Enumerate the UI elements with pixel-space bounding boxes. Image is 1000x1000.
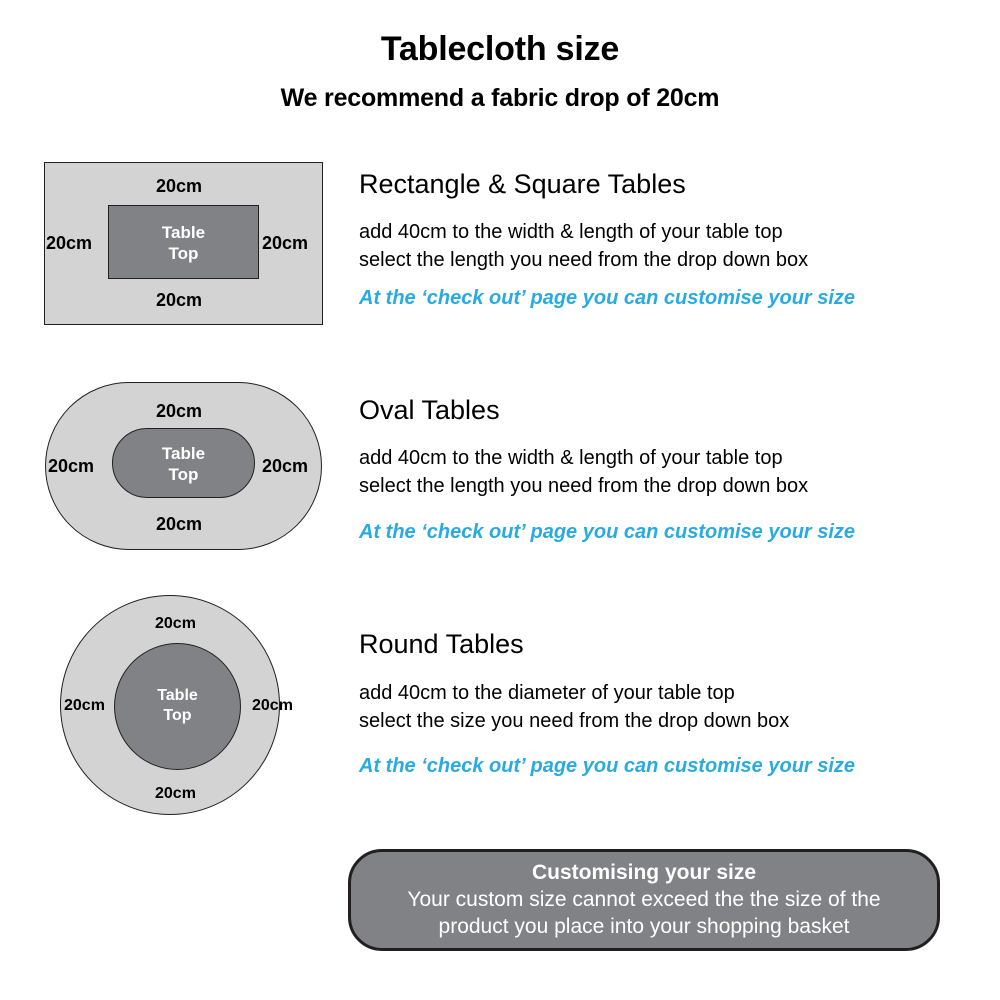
- section-oval-heading: Oval Tables: [359, 397, 500, 424]
- oval-table-top-label-line1: Table: [162, 444, 205, 463]
- oval-drop-bottom: 20cm: [156, 515, 202, 533]
- round-table-top: Table Top: [114, 643, 241, 770]
- section-rectangle-body-line1: add 40cm to the width & length of your t…: [359, 221, 783, 243]
- oval-table-top-label-line2: Top: [169, 465, 199, 484]
- round-table-top-label-line1: Table: [157, 687, 198, 704]
- rectangle-drop-right: 20cm: [262, 234, 308, 252]
- page-subtitle: We recommend a fabric drop of 20cm: [0, 84, 1000, 113]
- oval-drop-right: 20cm: [262, 457, 308, 475]
- section-oval-body: add 40cm to the width & length of your t…: [359, 445, 808, 500]
- round-drop-right: 20cm: [252, 698, 293, 714]
- oval-drop-top: 20cm: [156, 402, 202, 420]
- section-oval-body-line2: select the length you need from the drop…: [359, 475, 808, 497]
- oval-table-top: Table Top: [112, 428, 255, 498]
- rectangle-table-top-label-line2: Top: [169, 244, 199, 263]
- round-drop-left: 20cm: [64, 698, 105, 714]
- rectangle-table-top: Table Top: [108, 205, 259, 279]
- oval-drop-left: 20cm: [48, 457, 94, 475]
- round-drop-bottom: 20cm: [155, 786, 196, 802]
- section-oval-note: At the ‘check out’ page you can customis…: [359, 522, 855, 542]
- round-drop-top: 20cm: [155, 616, 196, 632]
- callout-line-2: product you place into your shopping bas…: [439, 914, 850, 941]
- customising-your-size-callout: Customising your size Your custom size c…: [348, 849, 940, 951]
- rectangle-drop-bottom: 20cm: [156, 291, 202, 309]
- rectangle-table-top-label-line1: Table: [162, 223, 205, 242]
- section-round-body: add 40cm to the diameter of your table t…: [359, 680, 789, 735]
- section-round-heading: Round Tables: [359, 631, 524, 658]
- callout-line-1: Your custom size cannot exceed the the s…: [407, 887, 880, 914]
- section-oval-body-line1: add 40cm to the width & length of your t…: [359, 447, 783, 469]
- round-table-top-label-line2: Top: [163, 707, 191, 724]
- section-rectangle-note: At the ‘check out’ page you can customis…: [359, 288, 855, 308]
- section-round-body-line1: add 40cm to the diameter of your table t…: [359, 682, 735, 704]
- section-round-note: At the ‘check out’ page you can customis…: [359, 756, 855, 776]
- section-rectangle-heading: Rectangle & Square Tables: [359, 171, 686, 198]
- rectangle-drop-left: 20cm: [46, 234, 92, 252]
- rectangle-drop-top: 20cm: [156, 177, 202, 195]
- section-rectangle-body-line2: select the length you need from the drop…: [359, 249, 808, 271]
- section-round-body-line2: select the size you need from the drop d…: [359, 710, 789, 732]
- section-rectangle-body: add 40cm to the width & length of your t…: [359, 219, 808, 274]
- page-title: Tablecloth size: [0, 30, 1000, 69]
- callout-title: Customising your size: [532, 860, 756, 885]
